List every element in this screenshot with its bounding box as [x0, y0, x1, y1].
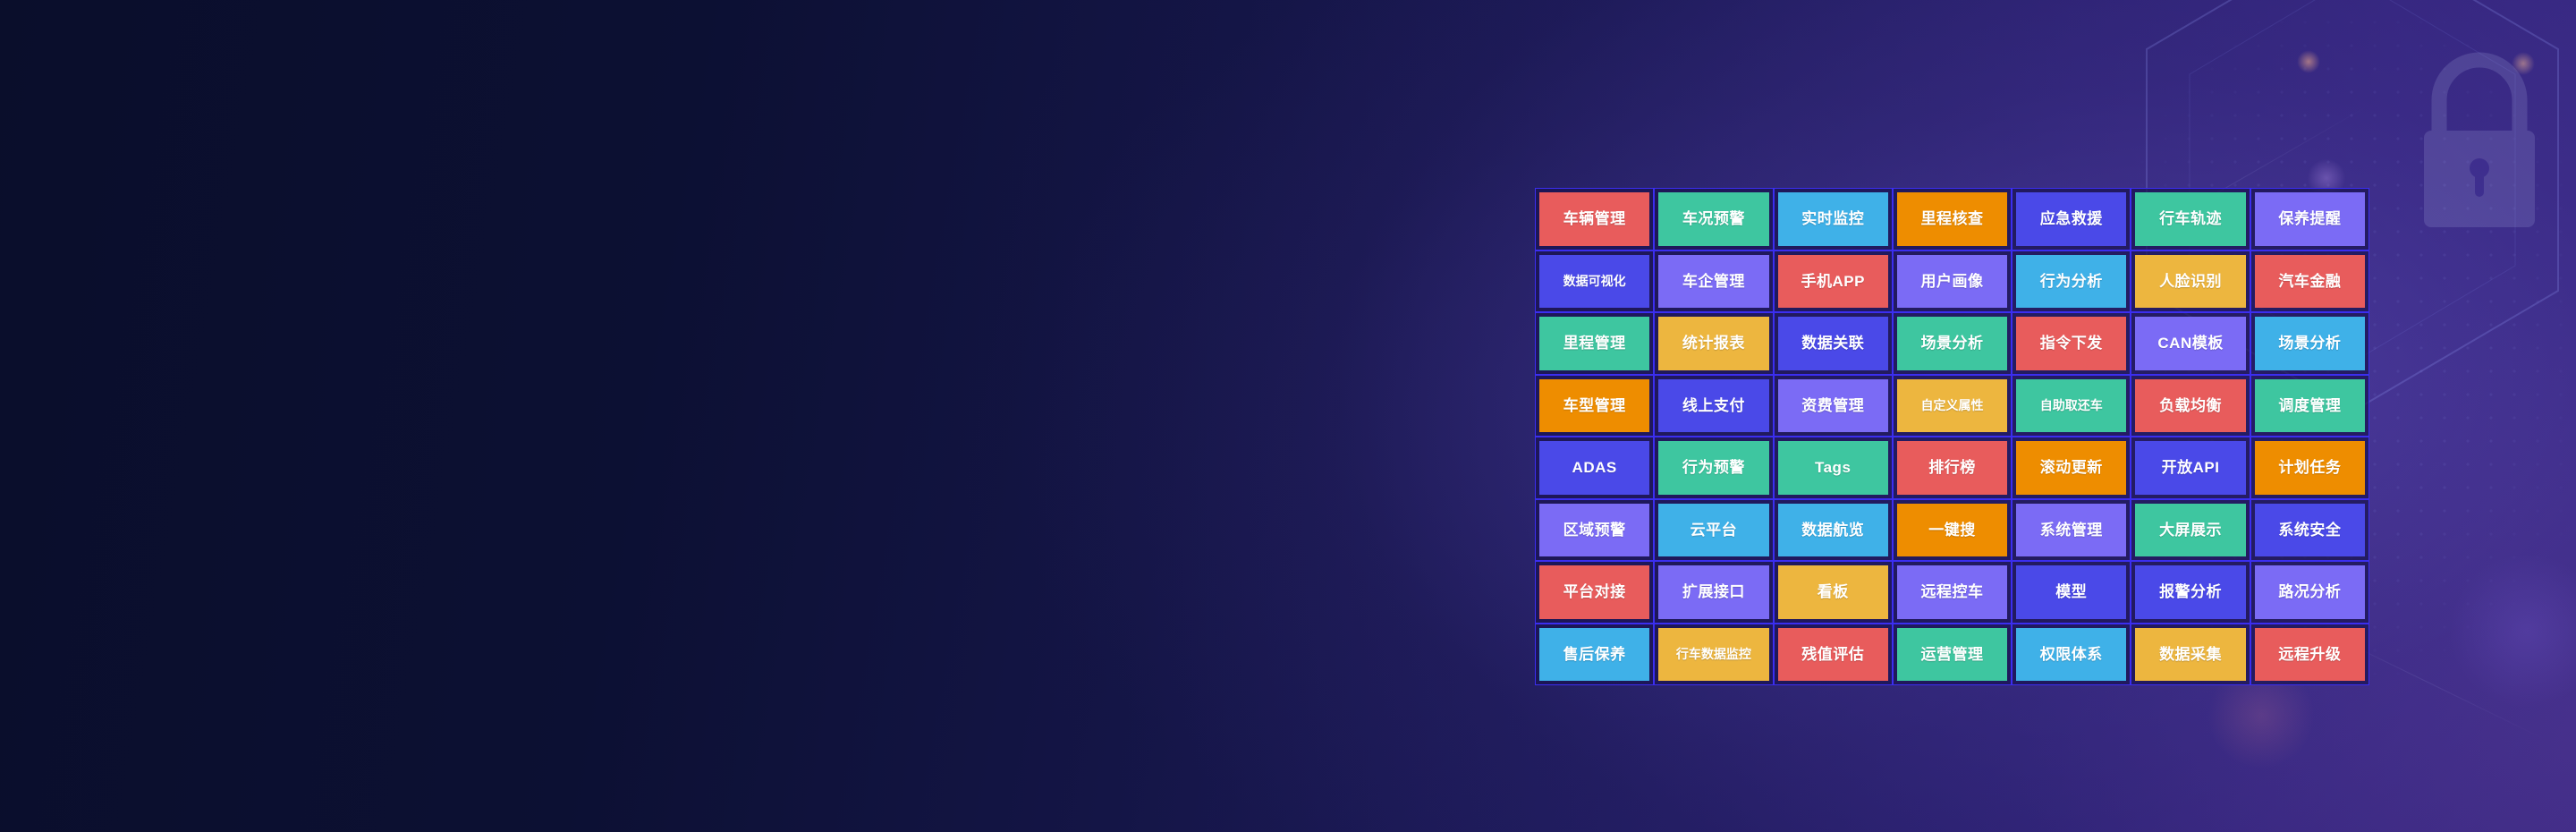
tile-cell[interactable]: 行车轨迹: [2131, 188, 2250, 250]
tile-label: 车企管理: [1658, 255, 1768, 309]
tile-label: 滚动更新: [2016, 441, 2126, 495]
tile-cell[interactable]: 一键搜: [1893, 499, 2012, 562]
tile-label: 场景分析: [2255, 317, 2365, 370]
tile-cell[interactable]: 数据航览: [1774, 499, 1893, 562]
tile-cell[interactable]: 车企管理: [1654, 250, 1773, 313]
tile-label: 行为分析: [2016, 255, 2126, 309]
tile-cell[interactable]: 实时监控: [1774, 188, 1893, 250]
tile-label: 行为预警: [1658, 441, 1768, 495]
tile-cell[interactable]: 里程核查: [1893, 188, 2012, 250]
tile-label: 指令下发: [2016, 317, 2126, 370]
tile-label: 计划任务: [2255, 441, 2365, 495]
tile-cell[interactable]: 自助取还车: [2012, 375, 2131, 437]
tile-label: 实时监控: [1778, 192, 1888, 246]
tile-label: 开放API: [2135, 441, 2245, 495]
tile-label: 数据可视化: [1539, 255, 1649, 309]
tile-cell[interactable]: 残值评估: [1774, 624, 1893, 686]
tile-label: 平台对接: [1539, 565, 1649, 619]
feature-tile-grid: 车辆管理车况预警实时监控里程核查应急救援行车轨迹保养提醒数据可视化车企管理手机A…: [1535, 188, 2369, 685]
tile-label: 数据采集: [2135, 628, 2245, 682]
glow-dot: [2297, 50, 2320, 73]
tile-label: 自定义属性: [1897, 379, 2007, 433]
tile-label: 扩展接口: [1658, 565, 1768, 619]
tile-label: 行车数据监控: [1658, 628, 1768, 682]
tile-cell[interactable]: ADAS: [1535, 437, 1654, 499]
tile-label: 运营管理: [1897, 628, 2007, 682]
tile-label: 一键搜: [1897, 504, 2007, 557]
tile-label: 数据关联: [1778, 317, 1888, 370]
tile-cell[interactable]: 平台对接: [1535, 561, 1654, 624]
tile-cell[interactable]: 行为预警: [1654, 437, 1773, 499]
tile-label: CAN模板: [2135, 317, 2245, 370]
tile-label: 调度管理: [2255, 379, 2365, 433]
tile-cell[interactable]: 权限体系: [2012, 624, 2131, 686]
tile-cell[interactable]: 区域预警: [1535, 499, 1654, 562]
tile-cell[interactable]: 售后保养: [1535, 624, 1654, 686]
tile-cell[interactable]: 系统安全: [2250, 499, 2369, 562]
glow-blob: [2451, 555, 2576, 707]
tile-cell[interactable]: 排行榜: [1893, 437, 2012, 499]
tile-cell[interactable]: 统计报表: [1654, 312, 1773, 375]
tile-cell[interactable]: 线上支付: [1654, 375, 1773, 437]
tile-label: 用户画像: [1897, 255, 2007, 309]
tile-label: 行车轨迹: [2135, 192, 2245, 246]
tile-cell[interactable]: 大屏展示: [2131, 499, 2250, 562]
tile-cell[interactable]: 数据采集: [2131, 624, 2250, 686]
tile-label: 里程管理: [1539, 317, 1649, 370]
tile-cell[interactable]: 场景分析: [2250, 312, 2369, 375]
tile-cell[interactable]: 资费管理: [1774, 375, 1893, 437]
tile-label: 模型: [2016, 565, 2126, 619]
tile-label: 车辆管理: [1539, 192, 1649, 246]
tile-label: 权限体系: [2016, 628, 2126, 682]
tile-cell[interactable]: 指令下发: [2012, 312, 2131, 375]
tile-cell[interactable]: 场景分析: [1893, 312, 2012, 375]
tile-cell[interactable]: 车辆管理: [1535, 188, 1654, 250]
tile-label: 线上支付: [1658, 379, 1768, 433]
tile-label: 系统安全: [2255, 504, 2365, 557]
tile-label: 场景分析: [1897, 317, 2007, 370]
tile-cell[interactable]: 应急救援: [2012, 188, 2131, 250]
tile-cell[interactable]: 汽车金融: [2250, 250, 2369, 313]
tile-cell[interactable]: 负载均衡: [2131, 375, 2250, 437]
tile-cell[interactable]: 远程控车: [1893, 561, 2012, 624]
tile-cell[interactable]: 运营管理: [1893, 624, 2012, 686]
tile-cell[interactable]: 车况预警: [1654, 188, 1773, 250]
tile-cell[interactable]: 里程管理: [1535, 312, 1654, 375]
tile-label: 路况分析: [2255, 565, 2365, 619]
tile-label: 远程升级: [2255, 628, 2365, 682]
tile-cell[interactable]: 云平台: [1654, 499, 1773, 562]
tile-cell[interactable]: 滚动更新: [2012, 437, 2131, 499]
tile-cell[interactable]: 路况分析: [2250, 561, 2369, 624]
tile-cell[interactable]: 看板: [1774, 561, 1893, 624]
tile-cell[interactable]: 用户画像: [1893, 250, 2012, 313]
tile-cell[interactable]: 自定义属性: [1893, 375, 2012, 437]
tile-label: 负载均衡: [2135, 379, 2245, 433]
tile-cell[interactable]: 开放API: [2131, 437, 2250, 499]
tile-cell[interactable]: 人脸识别: [2131, 250, 2250, 313]
tile-cell[interactable]: 数据可视化: [1535, 250, 1654, 313]
tile-label: 手机APP: [1778, 255, 1888, 309]
tile-cell[interactable]: Tags: [1774, 437, 1893, 499]
tile-cell[interactable]: 行为分析: [2012, 250, 2131, 313]
tile-cell[interactable]: 行车数据监控: [1654, 624, 1773, 686]
tile-cell[interactable]: 远程升级: [2250, 624, 2369, 686]
tile-cell[interactable]: 扩展接口: [1654, 561, 1773, 624]
tile-label: 汽车金融: [2255, 255, 2365, 309]
tile-label: 远程控车: [1897, 565, 2007, 619]
tile-cell[interactable]: 数据关联: [1774, 312, 1893, 375]
tile-cell[interactable]: 车型管理: [1535, 375, 1654, 437]
tile-label: 区域预警: [1539, 504, 1649, 557]
tile-cell[interactable]: 手机APP: [1774, 250, 1893, 313]
tile-cell[interactable]: 系统管理: [2012, 499, 2131, 562]
tile-label: 车况预警: [1658, 192, 1768, 246]
tile-label: Tags: [1778, 441, 1888, 495]
tile-label: 报警分析: [2135, 565, 2245, 619]
tile-label: 云平台: [1658, 504, 1768, 557]
tile-label: 排行榜: [1897, 441, 2007, 495]
glow-dot: [2512, 52, 2535, 75]
tile-label: 残值评估: [1778, 628, 1888, 682]
tile-label: 人脸识别: [2135, 255, 2245, 309]
tile-label: 里程核查: [1897, 192, 2007, 246]
page-root: 车辆管理车况预警实时监控里程核查应急救援行车轨迹保养提醒数据可视化车企管理手机A…: [0, 0, 2576, 832]
tile-label: 资费管理: [1778, 379, 1888, 433]
tile-cell[interactable]: 调度管理: [2250, 375, 2369, 437]
tile-label: 应急救援: [2016, 192, 2126, 246]
tile-label: ADAS: [1539, 441, 1649, 495]
tile-cell[interactable]: 模型: [2012, 561, 2131, 624]
tile-label: 大屏展示: [2135, 504, 2245, 557]
tile-label: 售后保养: [1539, 628, 1649, 682]
tile-cell[interactable]: 保养提醒: [2250, 188, 2369, 250]
tile-label: 看板: [1778, 565, 1888, 619]
padlock-icon: [2390, 36, 2569, 242]
tile-label: 自助取还车: [2016, 379, 2126, 433]
tile-label: 系统管理: [2016, 504, 2126, 557]
tile-label: 数据航览: [1778, 504, 1888, 557]
tile-label: 车型管理: [1539, 379, 1649, 433]
tile-label: 保养提醒: [2255, 192, 2365, 246]
tile-cell[interactable]: 计划任务: [2250, 437, 2369, 499]
tile-cell[interactable]: 报警分析: [2131, 561, 2250, 624]
tile-label: 统计报表: [1658, 317, 1768, 370]
tile-cell[interactable]: CAN模板: [2131, 312, 2250, 375]
